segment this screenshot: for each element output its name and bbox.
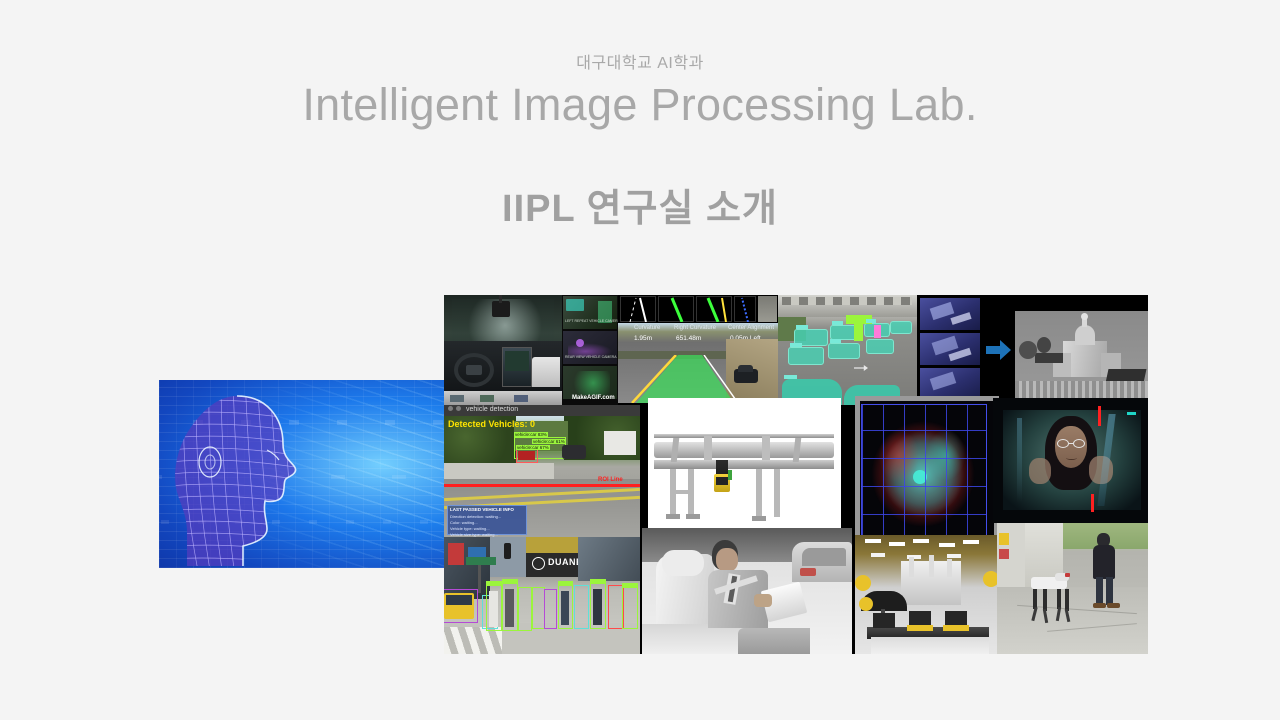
tile-quadruped-robot	[997, 523, 1148, 654]
arrow-right-icon	[986, 339, 1012, 361]
tile-face-recognition	[993, 398, 1148, 523]
last-passed-vehicle-info-panel: LAST PASSED VEHICLE INFO Direction detec…	[447, 505, 527, 535]
tile-lane-detection: Curvature Right Curvature Center Alignme…	[618, 295, 778, 403]
lane-thumb-1	[620, 296, 656, 322]
detection-box	[544, 589, 557, 629]
info-panel-line-2: Vehicle type: waiting...	[450, 526, 490, 531]
tracking-marker	[1091, 494, 1094, 512]
lane-thumb-2	[658, 296, 694, 322]
tile-vehicle-instance-segmentation	[778, 295, 917, 405]
wireframe-head-icon	[163, 386, 331, 566]
page-subtitle: IIPL 연구실 소개	[0, 183, 1280, 235]
page-title: Intelligent Image Processing Lab.	[0, 76, 1280, 134]
research-topics-collage: LEFT REPEAT VEHICLE CAMERA REAR VIEW VEH…	[444, 295, 1148, 654]
detection-box	[444, 589, 478, 623]
tile-warehouse-robotics	[855, 535, 999, 654]
tile-multi-camera-depth: LEFT REPEAT VEHICLE CAMERA REAR VIEW VEH…	[562, 295, 618, 405]
detection-box	[574, 585, 589, 629]
ai-wireframe-head-image	[159, 380, 444, 568]
tile-aerial-satellite-stack	[917, 295, 983, 405]
info-panel-line-0: Direction detection: waiting...	[450, 514, 501, 519]
tile-guardrail-lidar-rig	[648, 398, 841, 528]
tile-pedestrian-detection: DUANE	[444, 537, 640, 654]
lane-thumb-3	[696, 296, 732, 322]
lane-thumb-4	[734, 296, 756, 322]
tile-process-arrow	[983, 295, 1015, 405]
tracking-marker	[1098, 406, 1101, 426]
tile-3d-reconstruction	[1015, 295, 1148, 405]
tile-medical-ct-overlay	[855, 396, 999, 551]
title-block: 대구대학교 AI학과 Intelligent Image Processing …	[0, 54, 1280, 134]
tile-vehicle-detection-window: vehicle detection vehicle:car 83% vehicl…	[444, 405, 640, 537]
department-line: 대구대학교 AI학과	[0, 54, 1280, 74]
info-panel-title: LAST PASSED VEHICLE INFO	[450, 507, 514, 512]
tile-tesla-interior	[444, 295, 562, 405]
info-panel-line-1: Color: waiting...	[450, 520, 478, 525]
detection-box	[622, 587, 638, 629]
window-title: vehicle detection	[466, 406, 518, 413]
tile-autonomous-passenger	[642, 528, 852, 654]
detection-box	[518, 587, 532, 631]
roi-line	[444, 484, 640, 487]
